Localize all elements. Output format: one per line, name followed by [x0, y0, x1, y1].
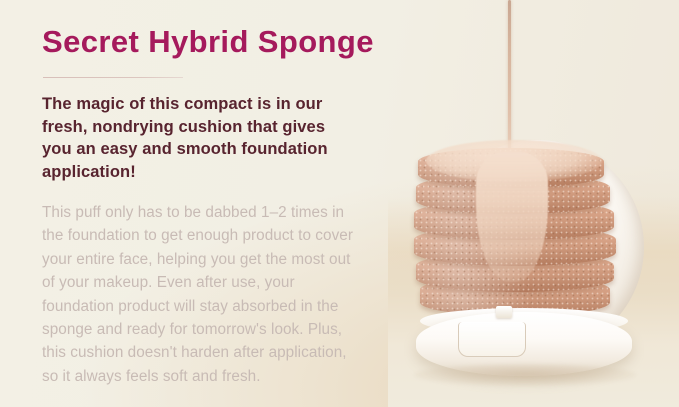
page-title: Secret Hybrid Sponge: [42, 23, 372, 61]
title-divider: [43, 77, 183, 78]
compact-hinge: [496, 306, 512, 318]
banner-subheading: The magic of this compact is in our fres…: [42, 93, 354, 183]
foundation-stream-icon: [508, 0, 511, 162]
banner-copy-block: Secret Hybrid Sponge The magic of this c…: [42, 23, 372, 388]
compact-latch: [458, 322, 526, 357]
banner-body-text: This puff only has to be dabbed 1–2 time…: [42, 201, 358, 388]
product-feature-banner: Secret Hybrid Sponge The magic of this c…: [0, 0, 679, 407]
product-shadow: [414, 364, 636, 386]
product-photo: [408, 0, 679, 407]
